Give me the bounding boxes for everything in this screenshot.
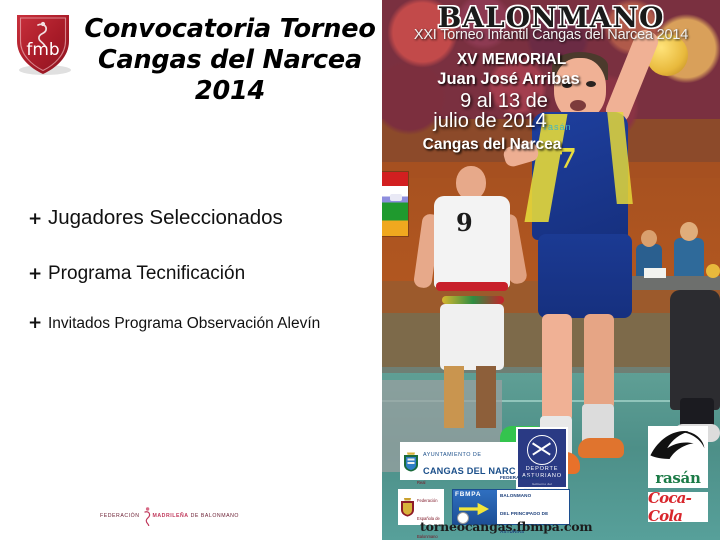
page-title: Convocatoria Torneo Cangas del Narcea 20… [80, 14, 380, 107]
list-item: + Invitados Programa Observación Alevín [28, 315, 378, 333]
presentation-slide: fmb Convocatoria Torneo Cangas del Narce… [0, 0, 720, 540]
title-line-3: 2014 [80, 76, 380, 107]
player-head [456, 166, 486, 200]
sponsor-rfebm-line-1: Real Federación [417, 480, 437, 503]
player-jersey-number: 9 [456, 208, 473, 237]
poster-memorial-name: Juan José Arribas [396, 70, 621, 89]
federation-footer-logo: FEDERACIÓN MADRILEÑA DE BALONMANO [100, 505, 286, 527]
dark-player-figure [670, 290, 720, 410]
fbmpa-mark-text: FBMPA [455, 491, 481, 498]
player-leg-right [476, 366, 496, 428]
list-item: + Jugadores Seleccionados [28, 206, 378, 230]
bird-icon [648, 452, 708, 469]
list-item: + Programa Tecnificación [28, 263, 378, 285]
plus-bullet-icon: + [28, 266, 48, 283]
player-shorts [538, 234, 632, 318]
coat-of-arms-icon [403, 451, 419, 472]
poster-city: Cangas del Narcea [392, 136, 592, 154]
officials-ball-icon [706, 264, 720, 278]
left-content-panel: fmb Convocatoria Torneo Cangas del Narce… [0, 0, 382, 540]
sponsor-cocacola-label: Coca-Cola [648, 489, 708, 525]
plus-bullet-icon: + [28, 211, 48, 228]
svg-text:fmb: fmb [26, 40, 59, 60]
poster-dates-line-2: julio de 2014 [390, 110, 590, 133]
player-waist-band-2 [442, 296, 504, 304]
player-white-kit: 9 [428, 178, 516, 428]
sponsor-cocacola: Coca-Cola [648, 492, 708, 522]
official-head-2 [680, 222, 698, 241]
sponsor-fbmpa-line-1: FEDERACIÓN DE BALONMANO [500, 475, 539, 498]
list-item-label: Invitados Programa Observación Alevín [48, 315, 320, 333]
list-item-label: Programa Tecnificación [48, 263, 245, 285]
list-item-label: Jugadores Seleccionados [48, 206, 283, 230]
title-line-1: Convocatoria Torneo [80, 14, 380, 45]
player-leg-left [444, 366, 464, 428]
sponsor-rasan: rasán [648, 426, 708, 488]
player-leg-right [584, 314, 614, 410]
poster-subtitle: XXI Torneo Infantil Cangas del Narcea 20… [382, 27, 720, 43]
title-line-2: Cangas del Narcea [80, 45, 380, 76]
plus-bullet-icon: + [28, 315, 48, 332]
official-body-2 [674, 238, 704, 278]
tournament-poster-image: 9 [382, 0, 720, 540]
footer-logo-suffix: DE BALONMANO [191, 513, 239, 519]
flag-emblem-icon [390, 194, 402, 201]
fmb-shield-logo: fmb [12, 9, 74, 77]
sponsor-rfebm-line-3: Balonmano [417, 534, 438, 539]
royal-crest-icon [400, 497, 415, 517]
bullet-list: + Jugadores Seleccionados + Programa Tec… [28, 206, 378, 333]
poster-website-url[interactable]: torneocangas.fbmpa.com [420, 519, 592, 534]
player-leg-left [542, 314, 572, 422]
handball-player-icon [140, 506, 153, 526]
player-waist-band [436, 282, 508, 291]
athlete-circle-icon [527, 435, 557, 465]
sponsor-rasan-label: rasán [648, 469, 708, 487]
poster-memorial-label: XV MEMORIAL [404, 51, 619, 69]
flag-banner-icon [382, 172, 408, 236]
footer-logo-middle: MADRILEÑA [153, 513, 189, 519]
sponsor-ayuntamiento-line-1: AYUNTAMIENTO DE [423, 452, 481, 458]
footer-logo-prefix: FEDERACIÓN [100, 513, 140, 519]
player-shorts [440, 304, 504, 370]
player-shoe-right [578, 438, 624, 458]
